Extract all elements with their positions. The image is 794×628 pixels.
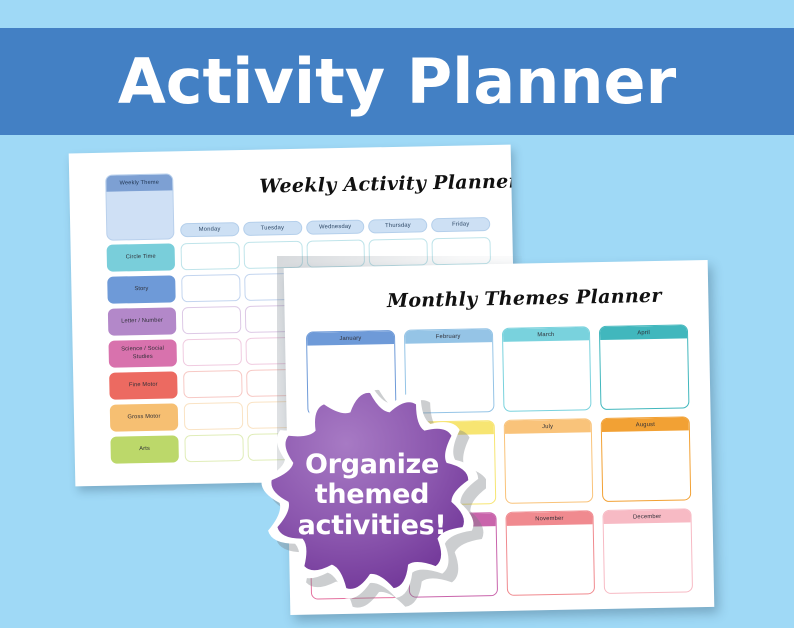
weekly-theme-label: Weekly Theme	[106, 174, 172, 191]
weekly-row-label: Fine Motor	[109, 371, 178, 399]
weekly-row-label: Gross Motor	[110, 403, 179, 431]
weekly-cell[interactable]	[181, 274, 240, 302]
weekday-header-wednesday: Wednesday	[306, 220, 365, 235]
weekly-cell[interactable]	[184, 402, 243, 430]
month-box-august[interactable]: August	[601, 416, 691, 502]
month-label: July	[504, 419, 591, 434]
weekly-cell[interactable]	[369, 238, 428, 266]
month-box-december[interactable]: December	[603, 508, 693, 594]
weekday-header-thursday: Thursday	[368, 218, 427, 233]
month-label: February	[405, 329, 492, 344]
month-label: March	[502, 327, 589, 342]
weekly-planner-title: Weekly Activity Planner	[259, 171, 499, 198]
weekly-cell[interactable]	[182, 338, 241, 366]
month-label: November	[506, 511, 593, 526]
weekly-theme-box: Weekly Theme	[105, 173, 174, 240]
weekly-row-label: Arts	[110, 435, 179, 463]
organize-badge: Organize themed activities!	[258, 382, 486, 608]
weekly-cell[interactable]	[181, 242, 240, 270]
weekday-header-monday: Monday	[180, 222, 239, 237]
weekday-header-tuesday: Tuesday	[243, 221, 302, 236]
weekly-cell[interactable]	[182, 306, 241, 334]
weekday-header-row: MondayTuesdayWednesdayThursdayFriday	[180, 217, 490, 237]
weekday-header-friday: Friday	[431, 217, 490, 232]
month-box-july[interactable]: July	[503, 418, 593, 504]
weekly-cell[interactable]	[183, 370, 242, 398]
monthly-planner-title: Monthly Themes Planner	[374, 285, 674, 313]
weekly-cell[interactable]	[432, 237, 491, 265]
month-box-november[interactable]: November	[505, 510, 595, 596]
header-banner: Activity Planner	[0, 28, 794, 135]
month-label: January	[307, 331, 394, 346]
page-title: Activity Planner	[118, 51, 676, 113]
weekly-cell[interactable]	[306, 240, 365, 268]
month-label: April	[600, 325, 687, 340]
weekly-cell[interactable]	[184, 434, 243, 462]
month-label: December	[604, 509, 691, 524]
month-box-march[interactable]: March	[501, 326, 591, 412]
weekly-cell[interactable]	[243, 241, 302, 269]
weekly-row-label: Science / Social Studies	[108, 339, 177, 367]
scalloped-badge-shape	[258, 382, 486, 608]
weekly-row-label: Story	[107, 275, 176, 303]
weekly-row-label: Circle Time	[107, 243, 176, 271]
month-label: August	[602, 417, 689, 432]
month-box-april[interactable]: April	[599, 324, 689, 410]
weekly-row-label: Letter / Number	[108, 307, 177, 335]
